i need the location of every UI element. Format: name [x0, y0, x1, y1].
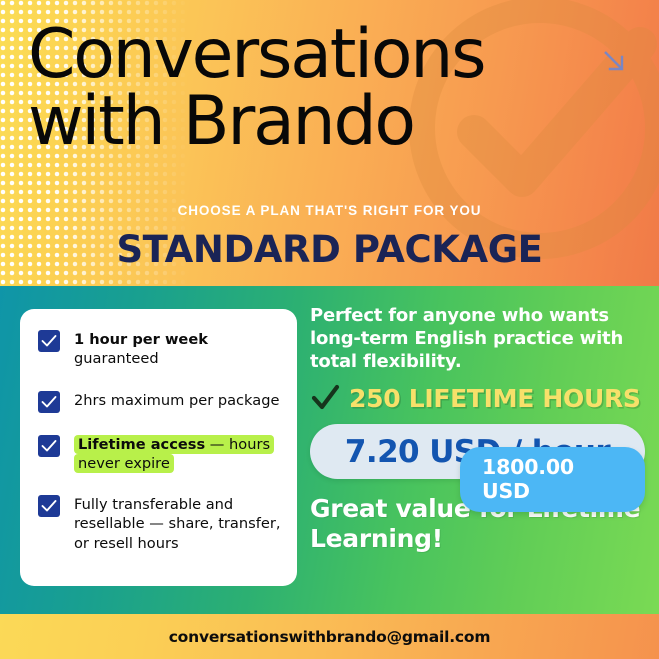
- title-line-2: with Brando: [28, 89, 628, 156]
- feature-label: Fully transferable and resellable — shar…: [74, 494, 283, 553]
- total-price-label: 1800.00 USD: [482, 455, 574, 503]
- feature-row: Fully transferable and resellable — shar…: [38, 494, 283, 553]
- feature-row: 2hrs maximum per package: [38, 390, 283, 413]
- offer-column: Perfect for anyone who wants long-term E…: [310, 304, 645, 553]
- offer-description: Perfect for anyone who wants long-term E…: [310, 304, 645, 373]
- checkbox-checked-icon[interactable]: [38, 330, 60, 352]
- lifetime-hours-label: 250 LIFETIME HOURS: [349, 384, 641, 413]
- checkbox-checked-icon[interactable]: [38, 391, 60, 413]
- package-title: STANDARD PACKAGE: [0, 228, 659, 271]
- feature-label: Lifetime access — hours never expire: [74, 434, 283, 474]
- feature-row: Lifetime access — hours never expire: [38, 434, 283, 474]
- page-title: Conversations with Brando: [28, 22, 628, 155]
- checkbox-checked-icon[interactable]: [38, 435, 60, 457]
- feature-list-card: 1 hour per week guaranteed2hrs maximum p…: [20, 309, 297, 586]
- contact-email[interactable]: conversationswithbrando@gmail.com: [169, 628, 491, 646]
- checkbox-checked-icon[interactable]: [38, 495, 60, 517]
- check-mark-icon: [310, 383, 340, 413]
- pricing-poster: Conversations with Brando CHOOSE A PLAN …: [0, 0, 659, 659]
- header-band: Conversations with Brando CHOOSE A PLAN …: [0, 0, 659, 286]
- feature-row: 1 hour per week guaranteed: [38, 329, 283, 369]
- feature-label: 2hrs maximum per package: [74, 390, 279, 410]
- offer-band: 1 hour per week guaranteed2hrs maximum p…: [0, 286, 659, 614]
- total-price-badge: 1800.00 USD: [460, 447, 645, 512]
- footer-band: conversationswithbrando@gmail.com: [0, 614, 659, 659]
- feature-label: 1 hour per week guaranteed: [74, 329, 283, 369]
- subtitle: CHOOSE A PLAN THAT'S RIGHT FOR YOU: [0, 203, 659, 218]
- lifetime-hours-row: 250 LIFETIME HOURS: [310, 383, 645, 413]
